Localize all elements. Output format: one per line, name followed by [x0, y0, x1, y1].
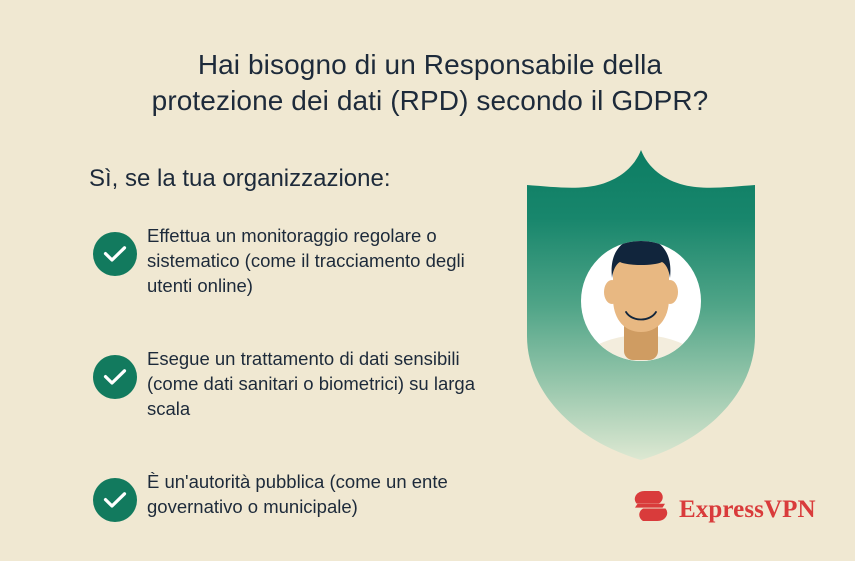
expressvpn-wordmark: ExpressVPN: [679, 497, 816, 522]
subtitle: Sì, se la tua organizzazione:: [89, 163, 391, 195]
infographic-canvas: Hai bisogno di un Responsabile della pro…: [0, 0, 855, 561]
check-icon: [93, 478, 137, 522]
page-title-line-2: protezione dei dati (RPD) secondo il GDP…: [60, 83, 800, 119]
page-title-line-1: Hai bisogno di un Responsabile della: [60, 47, 800, 83]
expressvpn-e-icon: [632, 490, 670, 528]
page-title: Hai bisogno di un Responsabile della pro…: [60, 47, 800, 119]
criteria-list: Effettua un monitoraggio regolare o sist…: [89, 222, 509, 519]
check-icon: [93, 232, 137, 276]
list-item: Esegue un trattamento di dati sensibili …: [89, 345, 509, 421]
list-item: Effettua un monitoraggio regolare o sist…: [89, 222, 509, 298]
expressvpn-logo[interactable]: ExpressVPN: [632, 490, 816, 528]
check-icon: [93, 355, 137, 399]
shield-illustration: [512, 140, 770, 470]
list-item: È un'autorità pubblica (come un ente gov…: [89, 468, 509, 519]
list-item-label: Esegue un trattamento di dati sensibili …: [147, 345, 509, 421]
list-item-label: È un'autorità pubblica (come un ente gov…: [147, 468, 509, 519]
list-item-label: Effettua un monitoraggio regolare o sist…: [147, 222, 509, 298]
